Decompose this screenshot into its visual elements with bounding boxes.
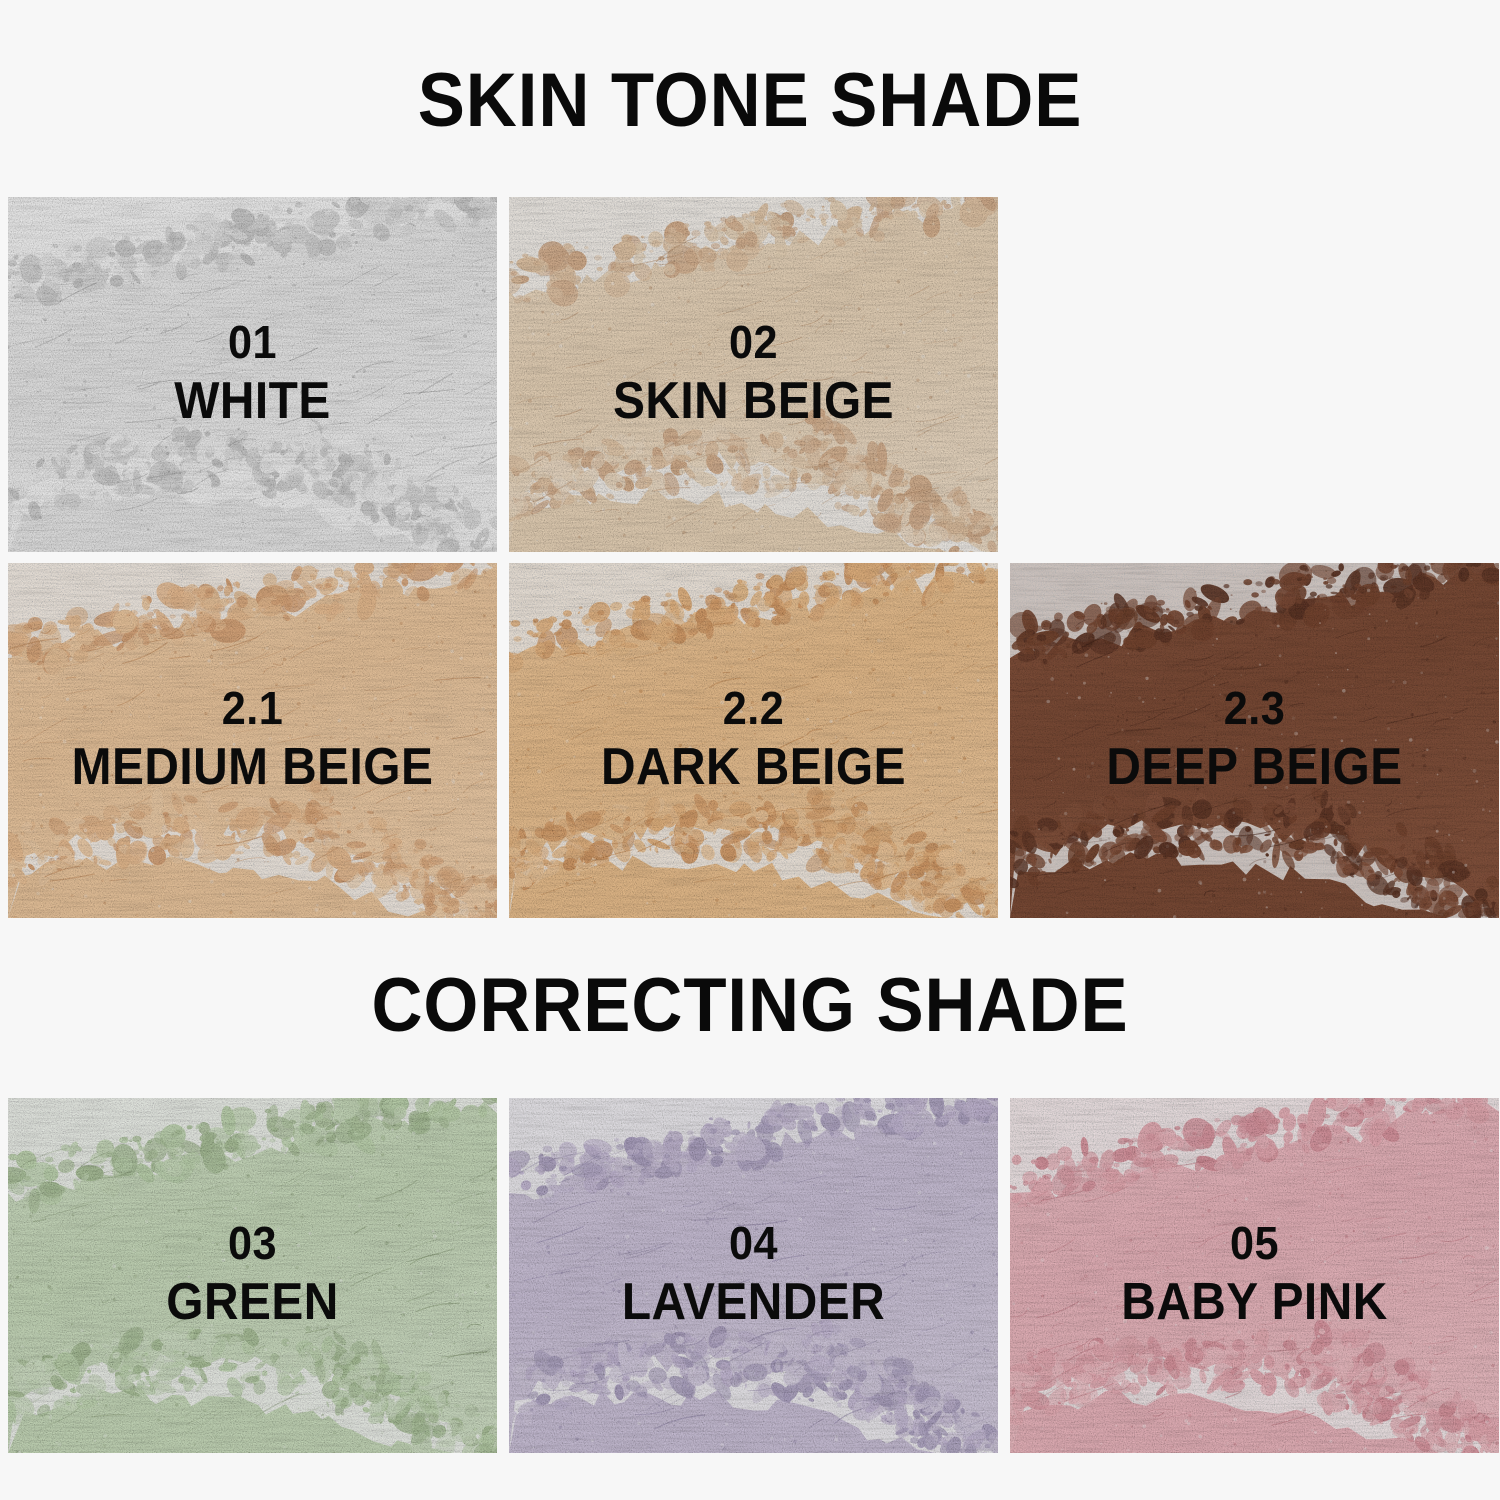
- swatch-tile[interactable]: 03 GREEN: [8, 1098, 497, 1453]
- swatch-tile[interactable]: 05 BABY PINK: [1010, 1098, 1499, 1453]
- swatch-row-correcting-1: 03 GREEN 04 LAVENDER 05 BABY PINK: [8, 1098, 1492, 1453]
- swatch-tile[interactable]: 01 WHITE: [8, 197, 497, 552]
- swatch-tile[interactable]: 2.3 DEEP BEIGE: [1010, 563, 1499, 918]
- section-heading-correcting: CORRECTING SHADE: [53, 968, 1448, 1044]
- powder-texture: [509, 1098, 998, 1453]
- swatch-tile[interactable]: 2.2 DARK BEIGE: [509, 563, 998, 918]
- powder-texture: [8, 1098, 497, 1453]
- swatch-tile[interactable]: 2.1 MEDIUM BEIGE: [8, 563, 497, 918]
- powder-texture: [1010, 1098, 1499, 1453]
- powder-texture: [8, 197, 497, 552]
- swatch-row-skin-tone-1: 01 WHITE 02 SKIN BEIGE: [8, 197, 1492, 552]
- powder-texture: [1010, 563, 1499, 918]
- swatch-tile[interactable]: 02 SKIN BEIGE: [509, 197, 998, 552]
- powder-texture: [509, 197, 998, 552]
- powder-texture: [8, 563, 497, 918]
- powder-texture: [509, 563, 998, 918]
- swatch-row-skin-tone-2: 2.1 MEDIUM BEIGE 2.2 DARK BEIGE 2.3 DEEP…: [8, 563, 1492, 918]
- section-heading-skin-tone: SKIN TONE SHADE: [53, 63, 1448, 139]
- shade-chart-page: SKIN TONE SHADE 01 WHITE 02 SKIN BEIGE 2…: [0, 0, 1500, 1500]
- swatch-tile[interactable]: 04 LAVENDER: [509, 1098, 998, 1453]
